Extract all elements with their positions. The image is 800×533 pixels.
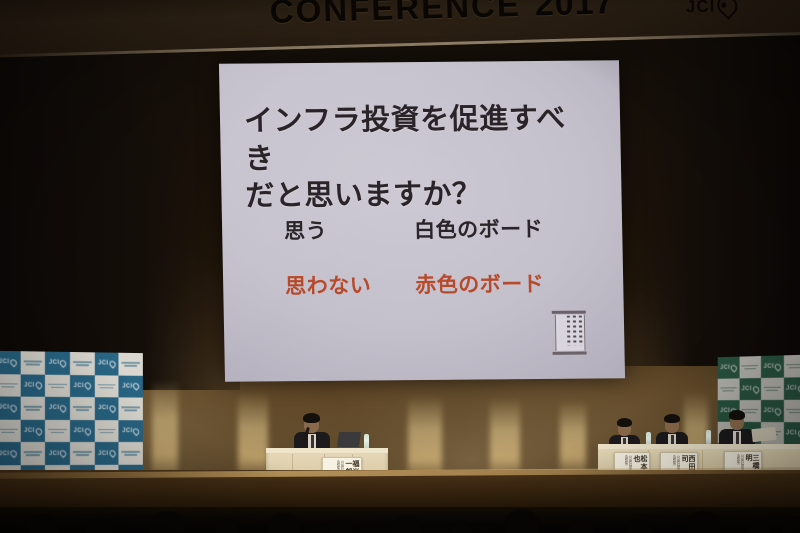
backdrop-sponsor-tile <box>739 356 761 378</box>
audience-head <box>215 519 239 533</box>
jci-logo: JCI <box>98 405 115 412</box>
slide-option-row: 思う 白色のボード <box>284 212 615 245</box>
banner-jci-logo-text: JCI <box>686 0 716 17</box>
backdrop-logo-tile: JCI <box>94 397 118 420</box>
backdrop-sponsor-tile <box>718 378 739 400</box>
backdrop-sponsor-tile <box>783 355 800 378</box>
sponsor-name-lines <box>786 364 800 369</box>
option-board-red: 赤色のボード <box>415 268 545 299</box>
option-answer-no: 思わない <box>285 269 416 300</box>
jci-logo: JCI <box>74 428 91 435</box>
audience-head <box>330 519 352 533</box>
banner-title-text: CONFERENCE <box>269 0 521 30</box>
jci-logo: JCI <box>24 427 42 434</box>
sponsor-name-lines <box>97 429 115 434</box>
sponsor-name-lines <box>73 451 92 456</box>
sponsor-name-lines <box>720 387 736 392</box>
jci-logo-text: JCI <box>49 360 60 366</box>
jci-pin-icon <box>59 359 68 368</box>
jci-logo: JCI <box>49 450 67 457</box>
backdrop-logo-tile: JCI <box>783 377 800 400</box>
jci-pin-icon <box>751 384 760 393</box>
backdrop-logo-tile: JCI <box>45 442 70 465</box>
audience-head <box>268 513 300 533</box>
jci-logo: JCI <box>49 405 67 412</box>
jci-pin-icon <box>83 381 92 390</box>
sponsor-name-lines <box>73 406 92 411</box>
sponsor-name-lines <box>742 365 759 370</box>
jci-pin-icon <box>729 363 738 372</box>
sponsor-name-lines <box>48 383 67 388</box>
jci-pin-icon <box>34 381 43 390</box>
panelist-hair <box>664 414 680 423</box>
backdrop-sponsor-tile <box>20 397 45 420</box>
sponsor-name-lines <box>122 451 140 455</box>
jci-logo: JCI <box>24 382 42 389</box>
backdrop-logo-tile: JCI <box>783 422 800 445</box>
jci-logo-text: JCI <box>0 359 10 365</box>
jci-logo-text: JCI <box>786 386 797 392</box>
sponsor-name-lines <box>23 406 42 411</box>
sponsor-name-lines <box>23 451 42 456</box>
backdrop-logo-tile: JCI <box>761 355 783 378</box>
sponsor-name-lines <box>48 429 67 434</box>
slide-heading-line2: だと思いますか？ <box>245 176 596 217</box>
jci-logo: JCI <box>786 385 800 392</box>
sponsor-name-lines <box>23 360 42 365</box>
jci-logo: JCI <box>122 383 139 390</box>
jci-pin-icon <box>59 404 68 413</box>
jci-logo: JCI <box>122 428 139 435</box>
conference-photo-scene: CONFERENCE2017 JCI インフラ投資を促進すべき だと思いますか？… <box>0 0 800 533</box>
panelist-document <box>751 427 776 442</box>
jci-pin-icon <box>108 449 117 458</box>
stage-light-wash <box>408 396 442 480</box>
jci-pin-icon <box>108 404 117 413</box>
slide-option-row: 思わない 赤色のボード <box>285 267 616 300</box>
jci-pin-icon <box>132 382 141 391</box>
jci-logo: JCI <box>74 382 91 389</box>
jci-pin-icon <box>108 359 117 368</box>
backdrop-logo-tile: JCI <box>20 374 45 397</box>
jci-pin-icon <box>714 0 742 20</box>
banner-year-text: 2017 <box>534 0 615 24</box>
backdrop-sponsor-tile <box>783 400 800 423</box>
backdrop-sponsor-tile <box>70 397 95 420</box>
sponsor-name-lines <box>97 384 115 389</box>
backdrop-logo-tile: JCI <box>0 351 20 374</box>
jci-logo: JCI <box>763 407 780 414</box>
backdrop-sponsor-tile <box>45 420 70 443</box>
scroll-graphic-icon <box>552 311 587 355</box>
jci-logo: JCI <box>741 386 758 393</box>
backdrop-sponsor-tile <box>20 442 45 465</box>
backdrop-sponsor-tile <box>761 378 783 400</box>
scroll-bar-bottom <box>553 352 587 355</box>
sponsor-name-lines <box>122 407 140 412</box>
backdrop-sponsor-tile <box>20 351 45 374</box>
stage-light-wash <box>560 400 586 476</box>
jci-logo: JCI <box>720 364 737 371</box>
jci-logo: JCI <box>763 363 780 370</box>
backdrop-sponsor-tile <box>119 353 143 376</box>
jci-logo-text: JCI <box>122 428 132 434</box>
option-board-white: 白色のボード <box>414 213 544 244</box>
projection-screen: インフラ投資を促進すべき だと思いますか？ 思う 白色のボード 思わない 赤色の… <box>219 60 625 381</box>
jci-logo-text: JCI <box>763 408 773 414</box>
sponsor-name-lines <box>122 362 140 367</box>
jci-logo: JCI <box>0 405 17 412</box>
laptop <box>337 432 361 447</box>
jci-pin-icon <box>773 406 782 415</box>
jci-logo-text: JCI <box>49 451 60 457</box>
jci-logo-text: JCI <box>24 382 35 388</box>
backdrop-logo-tile: JCI <box>94 352 118 375</box>
sponsor-name-lines <box>764 386 781 391</box>
scroll-glyph-column <box>567 316 571 346</box>
sponsor-name-lines <box>786 409 800 414</box>
audience-head <box>150 511 184 533</box>
slide-heading-line1: インフラ投資を促進すべき <box>244 101 595 179</box>
backdrop-sponsor-tile <box>0 374 20 397</box>
banner-jci-logo: JCI <box>686 0 738 17</box>
option-answer-yes: 思う <box>284 214 415 245</box>
backdrop-sponsor-tile <box>0 419 20 442</box>
slide-options: 思う 白色のボード 思わない 赤色のボード <box>284 212 616 325</box>
backdrop-sponsor-tile <box>70 442 95 465</box>
jci-logo-text: JCI <box>49 405 60 411</box>
audience-silhouettes <box>0 486 800 533</box>
sponsor-name-lines <box>0 383 17 388</box>
backdrop-logo-tile: JCI <box>119 420 143 442</box>
sponsor-name-lines <box>0 429 17 434</box>
backdrop-sponsor-tile <box>94 375 118 398</box>
jci-pin-icon <box>83 427 92 436</box>
jci-logo-text: JCI <box>0 451 10 457</box>
backdrop-sponsor-tile <box>70 352 95 375</box>
audience-head <box>748 521 770 533</box>
backdrop-logo-tile: JCI <box>761 400 783 422</box>
scroll-glyph-column <box>579 316 583 346</box>
jci-logo: JCI <box>0 450 17 457</box>
jci-logo-text: JCI <box>122 383 132 389</box>
jci-logo-text: JCI <box>24 428 35 434</box>
jci-pin-icon <box>9 449 18 458</box>
jci-pin-icon <box>9 404 18 413</box>
backdrop-logo-tile: JCI <box>20 420 45 443</box>
audience-head <box>688 511 720 533</box>
panelist-hair <box>617 418 632 427</box>
audience-head <box>28 514 58 533</box>
audience-head <box>628 520 652 533</box>
jci-logo-text: JCI <box>98 406 108 412</box>
water-bottle <box>364 434 369 449</box>
stage-light-wash <box>152 380 178 480</box>
backdrop-logo-tile: JCI <box>718 357 739 379</box>
speaker-tie <box>311 435 314 448</box>
backdrop-logo-tile: JCI <box>45 397 70 420</box>
jci-pin-icon <box>34 426 43 435</box>
stage-light-wash <box>238 392 268 480</box>
jci-logo-text: JCI <box>741 386 751 392</box>
jci-logo: JCI <box>98 360 115 367</box>
backdrop-logo-tile: JCI <box>119 375 143 398</box>
jci-logo-text: JCI <box>0 405 10 411</box>
backdrop-sponsor-tile <box>45 374 70 397</box>
stage-light-wash <box>490 398 520 478</box>
speaker-hair <box>303 413 320 423</box>
wall-shadow-right <box>600 36 800 366</box>
jci-logo-text: JCI <box>98 361 108 367</box>
banner-title: CONFERENCE2017 <box>269 0 615 32</box>
backdrop-logo-tile: JCI <box>0 442 20 465</box>
jci-logo-text: JCI <box>720 365 730 371</box>
scroll-glyphs <box>564 316 583 346</box>
backdrop-logo-tile: JCI <box>739 378 761 400</box>
jci-pin-icon <box>9 358 18 367</box>
audience-head <box>86 518 112 533</box>
jci-logo-text: JCI <box>74 428 84 434</box>
jci-pin-icon <box>773 362 782 371</box>
audience-head <box>452 522 472 533</box>
backdrop-logo-tile: JCI <box>45 352 70 375</box>
jci-logo: JCI <box>786 430 800 437</box>
water-bottle <box>706 430 711 444</box>
scroll-bar-top <box>552 311 586 314</box>
scroll-glyph-column <box>573 316 577 346</box>
backdrop-logo-tile: JCI <box>0 397 20 420</box>
jci-logo-text: JCI <box>763 364 773 370</box>
backdrop-sponsor-tile <box>119 398 143 420</box>
jci-logo: JCI <box>0 359 17 366</box>
jci-logo: JCI <box>49 359 67 366</box>
backdrop-logo-tile: JCI <box>70 420 95 443</box>
jci-logo-text: JCI <box>786 430 797 436</box>
panelist-hair <box>729 410 745 420</box>
jci-logo-text: JCI <box>74 383 84 389</box>
jci-pin-icon <box>59 449 68 458</box>
jci-logo: JCI <box>98 450 115 457</box>
backdrop-logo-tile: JCI <box>94 442 118 464</box>
sponsor-name-lines <box>73 361 92 366</box>
backdrop-logo-tile: JCI <box>70 375 95 398</box>
jci-logo-text: JCI <box>98 451 108 457</box>
backdrop-sponsor-tile <box>94 420 118 442</box>
slide-heading: インフラ投資を促進すべき だと思いますか？ <box>244 101 596 217</box>
wall-shadow-left <box>0 30 240 390</box>
backdrop-sponsor-tile <box>119 442 143 464</box>
jci-pin-icon <box>132 427 141 436</box>
audience-head <box>505 509 539 533</box>
